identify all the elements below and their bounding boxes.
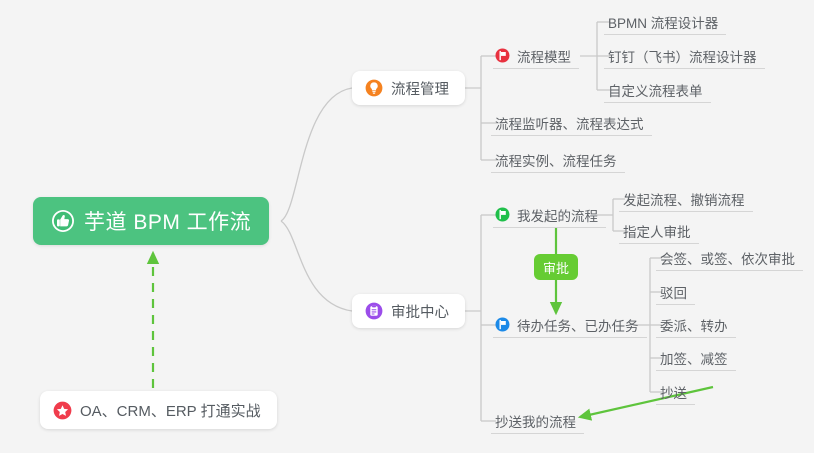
node-assignee-approval[interactable]: 指定人审批 (619, 218, 699, 244)
node-label: 抄送 (660, 382, 687, 402)
node-label: 会签、或签、依次审批 (660, 248, 795, 268)
node-multi-approval[interactable]: 会签、或签、依次审批 (656, 245, 803, 271)
node-reject[interactable]: 驳回 (656, 279, 695, 305)
flag-icon (495, 207, 510, 222)
thumbs-up-icon (51, 209, 75, 233)
flag-icon (495, 48, 510, 63)
node-label: 抄送我的流程 (495, 411, 576, 431)
node-label: 委派、转办 (660, 315, 728, 335)
clipboard-icon (365, 302, 383, 320)
node-bpmn-designer[interactable]: BPMN 流程设计器 (604, 9, 726, 35)
node-process-instance[interactable]: 流程实例、流程任务 (491, 147, 625, 173)
node-label: 待办任务、已办任务 (517, 315, 639, 335)
mindmap-canvas: 芋道 BPM 工作流 流程管理 流程模型 BPMN 流程设计器 钉钉（飞书 (0, 0, 814, 453)
star-icon (53, 401, 72, 420)
node-label: 流程实例、流程任务 (495, 150, 617, 170)
node-cc[interactable]: 抄送 (656, 379, 695, 405)
flag-icon (495, 317, 510, 332)
node-label: OA、CRM、ERP 打通实战 (80, 400, 261, 421)
branch-label: 流程管理 (391, 78, 449, 99)
node-my-initiated[interactable]: 我发起的流程 (493, 202, 606, 228)
node-label: 钉钉（飞书）流程设计器 (608, 46, 757, 66)
branch-process-management[interactable]: 流程管理 (352, 71, 465, 105)
approval-tag[interactable]: 审批 (534, 254, 578, 280)
node-add-remove-sign[interactable]: 加签、减签 (656, 345, 736, 371)
node-process-listener[interactable]: 流程监听器、流程表达式 (491, 110, 652, 136)
node-process-model[interactable]: 流程模型 (493, 43, 579, 69)
branch-label: 审批中心 (391, 301, 449, 322)
lightbulb-icon (365, 79, 383, 97)
approval-tag-label: 审批 (543, 258, 569, 277)
node-start-cancel-process[interactable]: 发起流程、撤销流程 (619, 186, 753, 212)
node-delegate-transfer[interactable]: 委派、转办 (656, 312, 736, 338)
node-label: 指定人审批 (623, 221, 691, 241)
node-label: 加签、减签 (660, 348, 728, 368)
root-label: 芋道 BPM 工作流 (84, 206, 251, 236)
node-label: 流程模型 (517, 46, 571, 66)
node-label: 自定义流程表单 (608, 80, 703, 100)
node-label: BPMN 流程设计器 (608, 12, 718, 32)
branch-approval-center[interactable]: 审批中心 (352, 294, 465, 328)
node-label: 流程监听器、流程表达式 (495, 113, 644, 133)
node-integration-practice[interactable]: OA、CRM、ERP 打通实战 (40, 391, 277, 429)
root-node[interactable]: 芋道 BPM 工作流 (33, 197, 269, 245)
node-cc-to-me[interactable]: 抄送我的流程 (491, 408, 584, 434)
node-label: 发起流程、撤销流程 (623, 189, 745, 209)
node-label: 驳回 (660, 282, 687, 302)
node-todo-done-tasks[interactable]: 待办任务、已办任务 (493, 312, 647, 338)
node-label: 我发起的流程 (517, 205, 598, 225)
node-dingtalk-feishu-designer[interactable]: 钉钉（飞书）流程设计器 (604, 43, 765, 69)
node-custom-form[interactable]: 自定义流程表单 (604, 77, 711, 103)
